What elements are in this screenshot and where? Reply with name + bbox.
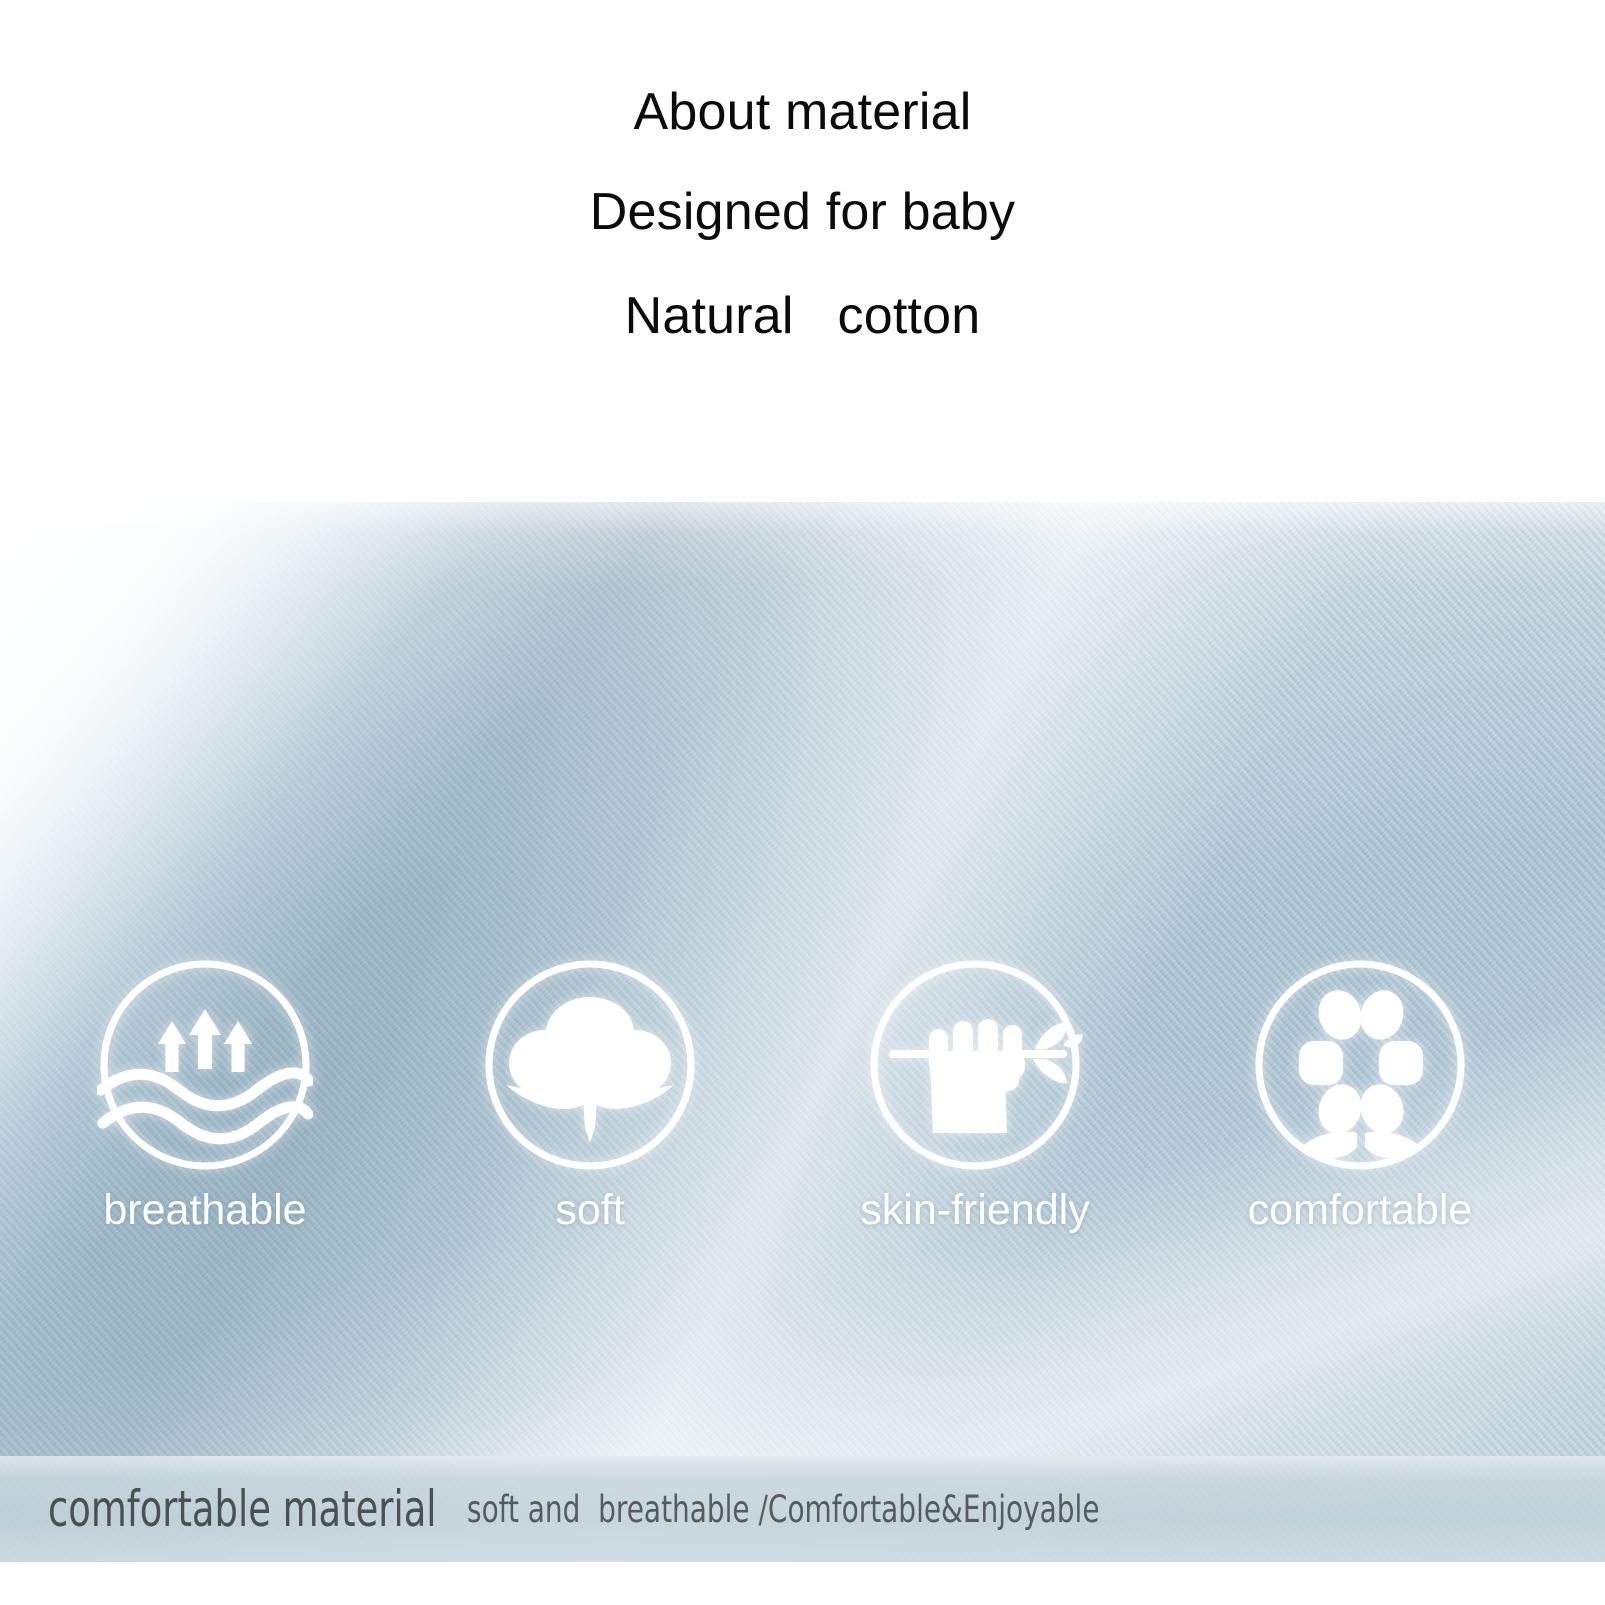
fabric-photo: breathable bbox=[0, 502, 1605, 1562]
hand-branch-icon bbox=[867, 957, 1083, 1173]
headline-about-material: About material bbox=[0, 86, 1605, 138]
bottom-banner: comfortable material soft and breathable… bbox=[0, 1456, 1605, 1562]
feature-label: skin-friendly bbox=[855, 1189, 1095, 1232]
headline-natural-cotton: Natural cotton bbox=[0, 290, 1605, 342]
flower-icon bbox=[1252, 957, 1468, 1173]
banner-primary-text: comfortable material bbox=[48, 1484, 437, 1534]
header-section: About material Designed for baby Natural… bbox=[0, 0, 1605, 502]
headline-designed-for-baby: Designed for baby bbox=[0, 186, 1605, 238]
footer-whitespace bbox=[0, 1562, 1605, 1605]
feature-icon-row: breathable bbox=[0, 502, 1605, 1562]
breathable-icon bbox=[97, 957, 313, 1173]
feature-skin-friendly: skin-friendly bbox=[855, 957, 1095, 1257]
banner-secondary-text: soft and breathable /Comfortable&Enjoyab… bbox=[467, 1491, 1100, 1528]
feature-breathable: breathable bbox=[85, 957, 325, 1257]
feature-label: soft bbox=[470, 1189, 710, 1232]
feature-label: breathable bbox=[85, 1189, 325, 1232]
feature-soft: soft bbox=[470, 957, 710, 1257]
product-material-infographic: About material Designed for baby Natural… bbox=[0, 0, 1605, 1605]
feature-label: comfortable bbox=[1240, 1189, 1480, 1232]
feature-comfortable: comfortable bbox=[1240, 957, 1480, 1257]
cotton-boll-icon bbox=[482, 957, 698, 1173]
